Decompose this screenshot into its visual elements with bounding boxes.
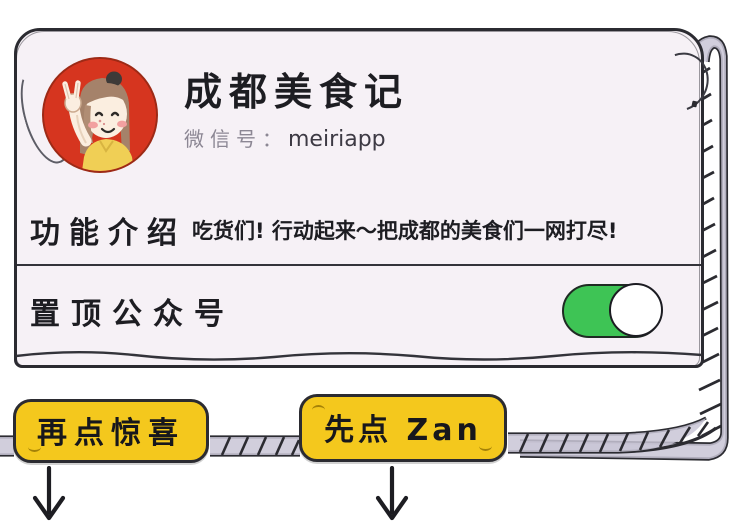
account-id-label: 微信号： [184, 127, 288, 151]
avatar[interactable] [34, 51, 158, 175]
zan-button-label: 先点 Zan [324, 405, 482, 449]
button-corner-tick-icon [479, 441, 492, 451]
button-corner-tick-icon [312, 405, 325, 415]
pin-account-toggle[interactable] [562, 284, 662, 338]
function-intro-value: 吃货们! 行动起来～把成都的美食们一网打尽! [192, 215, 617, 245]
function-intro-label: 功能介绍 [30, 208, 186, 252]
cartoon-girl-peace-sign-avatar [44, 59, 156, 171]
row-pin-account: 置顶公众号 [30, 276, 680, 346]
surprise-button[interactable]: 再点惊喜 [13, 399, 209, 463]
row-function-intro: 功能介绍 吃货们! 行动起来～把成都的美食们一网打尽! [30, 199, 680, 261]
zan-button[interactable]: 先点 Zan [299, 394, 507, 462]
account-titles: 成都美食记 微信号：meiriapp [184, 73, 409, 153]
account-id-line: 微信号：meiriapp [184, 123, 409, 152]
screenshot-canvas: 成都美食记 微信号：meiriapp 功能介绍 吃货们! 行动起来～把成都的美食… [0, 0, 750, 520]
account-name: 成都美食记 [184, 73, 409, 113]
button-corner-tick-icon [28, 442, 41, 452]
arrow-down-icon [26, 466, 72, 524]
arrow-down-icon [369, 466, 415, 524]
toggle-knob [609, 283, 663, 337]
account-id-value: meiriapp [288, 127, 386, 152]
surprise-button-label: 再点惊喜 [37, 408, 185, 452]
pin-account-label: 置顶公众号 [30, 289, 235, 333]
row-divider [17, 264, 701, 266]
account-header: 成都美食记 微信号：meiriapp [18, 30, 672, 195]
